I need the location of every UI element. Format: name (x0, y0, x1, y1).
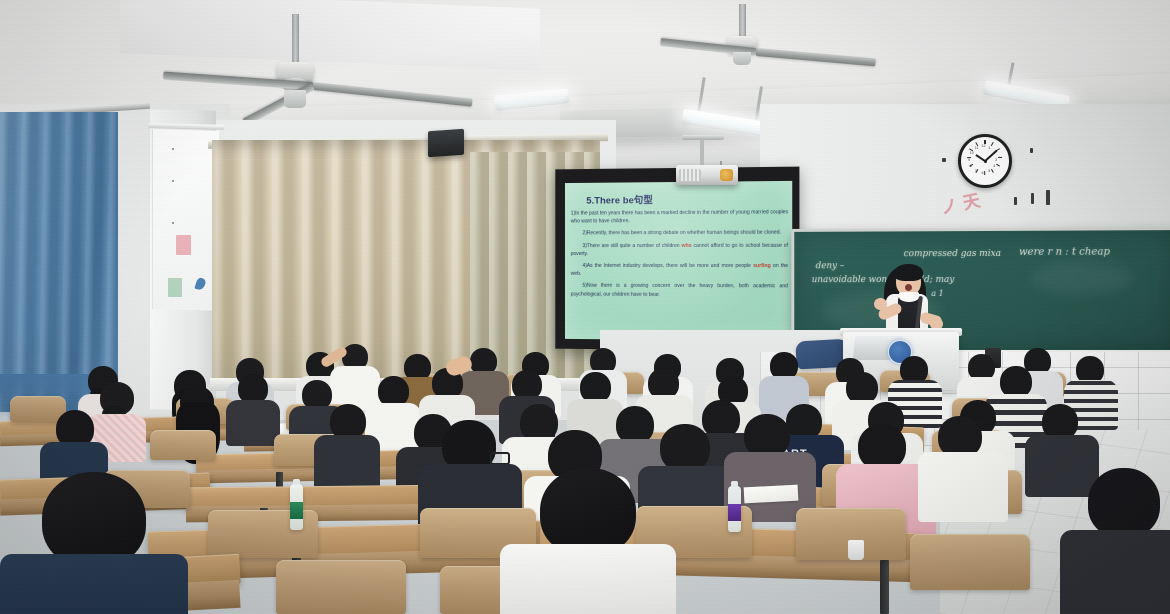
student-head (540, 468, 636, 556)
clock-numeral: 4 (993, 164, 995, 168)
projector-lens (720, 169, 733, 181)
wall-hook (1046, 190, 1050, 205)
clock-numeral: 6 (982, 171, 984, 175)
chalk-smudge (1031, 261, 1132, 295)
clock-tick (999, 157, 1003, 158)
student-torso (1025, 435, 1099, 497)
wall-hook (1031, 193, 1034, 204)
fan-rod (739, 4, 746, 38)
fan-downlight (284, 90, 306, 108)
clock-center-pin (984, 160, 987, 163)
projector-vent (679, 169, 701, 181)
clock-numeral: 11 (975, 146, 979, 150)
clock-tick (984, 140, 985, 144)
fan-downlight (733, 52, 751, 65)
slide-line-5: 5)Now there is a growing concern over th… (571, 282, 788, 299)
wall-dot (172, 148, 174, 150)
slide-line-1: 1)In the past ten years there has been a… (571, 208, 788, 226)
chalk-note: unavoidable wonder could; may (812, 275, 955, 285)
projection-screen: 5.There be句型 1)In the past ten years the… (555, 167, 799, 352)
wall-hook (942, 158, 946, 162)
slide-highlight-surfing: surfing (753, 263, 771, 269)
teacher-collar (899, 292, 919, 302)
bottle-label (290, 502, 303, 519)
chalk-note: were r n : t cheap (1019, 247, 1110, 258)
wall-clock: 121234567891011 (958, 134, 1012, 188)
slide-line-3: 3)There are still quite a number of chil… (571, 241, 788, 258)
seat-back (910, 534, 1030, 590)
clock-numeral: 3 (995, 158, 997, 162)
wall-speaker (428, 129, 464, 158)
slide-body: 1)In the past ten years there has been a… (571, 208, 788, 303)
chalk-note: compressed gas mixa (904, 249, 1001, 259)
teacher-mouth (905, 284, 912, 291)
student-torso (0, 554, 188, 614)
chalk-note: a 1 (931, 289, 943, 298)
clock-tick (997, 164, 1001, 167)
bottle-cap (731, 481, 738, 487)
paper-cup[interactable] (848, 540, 864, 560)
worksheet[interactable] (744, 485, 799, 504)
clock-numeral: 8 (970, 164, 972, 168)
clock-tick (991, 169, 994, 173)
student-torso (500, 544, 676, 614)
slide-line-2: 2)Recently, there has been a strong deba… (571, 229, 788, 238)
wall-hook (1030, 148, 1033, 153)
clock-numeral: 7 (975, 169, 977, 173)
seat-back (276, 560, 406, 614)
bottle-label (728, 504, 741, 521)
green-label-bottle[interactable] (290, 484, 303, 530)
clock-tick (984, 172, 985, 176)
slide-title: 5.There be句型 (586, 192, 653, 206)
purple-label-bottle[interactable] (728, 486, 741, 532)
slide-highlight-who: who (681, 243, 691, 249)
clock-numeral: 12 (982, 144, 986, 148)
clock-tick (991, 142, 994, 146)
clock-numeral: 10 (970, 151, 974, 155)
wall-dot (172, 222, 174, 224)
bottle-cap (293, 479, 300, 485)
pink-sticky-note (176, 235, 191, 255)
chalk-note: deny – (816, 261, 845, 271)
clock-numeral: 9 (968, 158, 970, 162)
teacher-hand-left (874, 298, 887, 310)
fan-rod (292, 14, 299, 64)
presentation-slide: 5.There be句型 1)In the past ten years the… (565, 181, 792, 341)
green-sticky-note (168, 278, 182, 297)
wall-hook (1014, 197, 1017, 205)
student-torso (314, 435, 380, 491)
seat-back (150, 430, 216, 460)
wall-dot (172, 180, 174, 182)
teacher-hair-front (894, 264, 923, 281)
student-head (1088, 468, 1160, 538)
desk-leg (880, 560, 889, 614)
clock-numeral: 1 (988, 146, 990, 150)
slide-line-4: 4)As the Internet industry develops, the… (571, 262, 788, 279)
whiteboard (152, 129, 219, 311)
clock-numeral: 5 (988, 169, 990, 173)
student-torso (226, 400, 280, 446)
student-head (660, 424, 710, 472)
student-torso (918, 452, 1008, 522)
classroom-photo: 5.There be句型 1)In the past ten years the… (0, 0, 1170, 614)
student-torso (1060, 530, 1170, 614)
